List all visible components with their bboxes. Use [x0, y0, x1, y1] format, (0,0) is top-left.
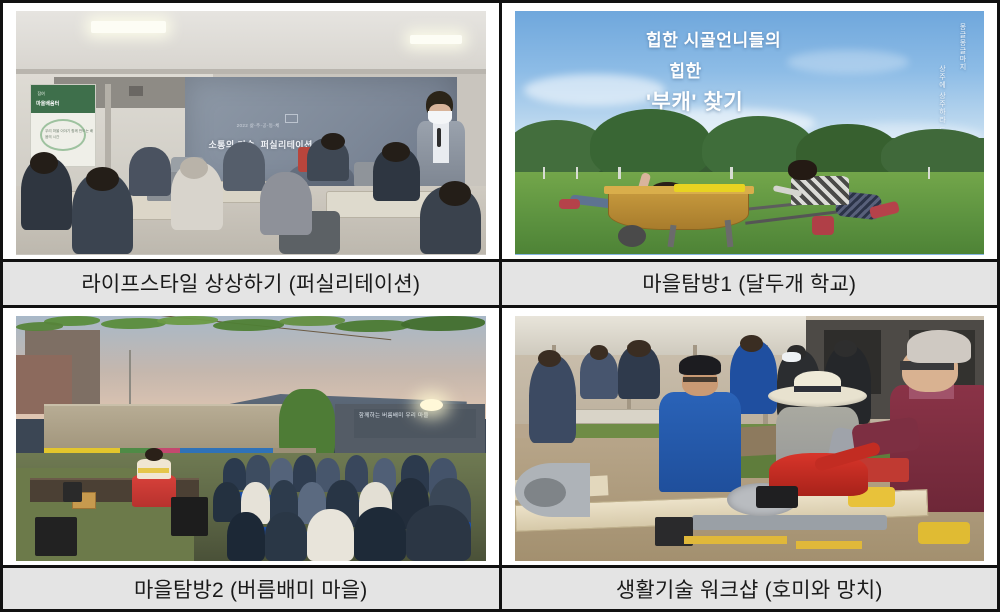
- saw-battery: [756, 486, 798, 508]
- leaf-cluster: [279, 316, 345, 326]
- work-glove: [918, 522, 970, 544]
- speaker-box: [63, 482, 82, 502]
- leaf-cluster: [335, 320, 410, 333]
- photo-village-tour-2: 함께하는 버름배미 우리 마을 마 을 을 마을: [16, 316, 486, 562]
- participant-head: [321, 133, 344, 150]
- slide-subtitle: 2022 삶-주-공-동-체: [237, 123, 280, 129]
- straw-hat-band: [794, 386, 841, 391]
- background-participant-head: [627, 340, 650, 357]
- photo-caption-grid: 참여 마을배움터 우리 마을 이야기 함께 만드는 배움의 시간 2022 삶-…: [0, 0, 1000, 612]
- poster-headline-2: 힙한: [669, 57, 701, 82]
- caption-bottom-left: 마을탐방2 (버름배미 마을): [3, 565, 499, 609]
- elder-grey-hair: [907, 330, 971, 363]
- fence-post: [928, 167, 931, 179]
- presenter-mask: [428, 111, 451, 124]
- screen-marker: [285, 114, 299, 123]
- pusher-hair: [788, 160, 817, 180]
- audience-member: [307, 509, 354, 561]
- photo-frame-lifestyle-imagining: 참여 마을배움터 우리 마을 이야기 함께 만드는 배움의 시간 2022 삶-…: [3, 3, 499, 259]
- fence-post: [576, 167, 579, 179]
- woman-pushing-wheelbarrow: [773, 157, 904, 235]
- speaker-box: [171, 497, 209, 536]
- poster-body-text: 우리 마을 이야기 함께 만드는 배움의 시간: [45, 129, 95, 140]
- grid-cell-top-right: 힙한 시골언니들의 힙한 '부캐' 찾기 반짝반짝 나의 반짝을 찾아서.. 몽…: [502, 3, 998, 305]
- saw-yellow-trim: [684, 536, 787, 543]
- caption-bottom-right: 생활기술 워크샵 (호미와 망치): [502, 565, 998, 609]
- performer-sash: [138, 468, 169, 473]
- banner-text: 함께하는 버름배미 우리 마을: [359, 412, 429, 422]
- grid-cell-top-left: 참여 마을배움터 우리 마을 이야기 함께 만드는 배움의 시간 2022 삶-…: [3, 3, 499, 305]
- glasses: [683, 377, 717, 382]
- poster-line1: 참여: [37, 91, 44, 97]
- wheelbarrow-wheel: [618, 225, 646, 247]
- ceiling-light-secondary: [410, 35, 462, 43]
- elder-participant: [890, 330, 984, 512]
- audience-member: [227, 512, 265, 561]
- photo-life-skills-workshop: [515, 316, 985, 562]
- fence-post: [730, 167, 733, 179]
- foreground-foliage: [16, 316, 486, 399]
- photo-frame-village-tour-2: 함께하는 버름배미 우리 마을 마 을 을 마을: [3, 308, 499, 566]
- participant: [260, 172, 312, 235]
- caption-top-left: 라이프스타일 상상하기 (퍼실리테이션): [3, 259, 499, 305]
- tree: [590, 109, 712, 181]
- ceiling-light: [91, 21, 166, 33]
- leaf-cluster: [213, 319, 283, 331]
- photo-village-tour-1: 힙한 시골언니들의 힙한 '부캐' 찾기 반짝반짝 나의 반짝을 찾아서.. 몽…: [515, 11, 985, 255]
- cloud: [787, 50, 909, 74]
- audience-member: [265, 512, 307, 561]
- leaf-cluster: [16, 322, 63, 330]
- participant: [223, 142, 265, 191]
- microphone: [437, 128, 441, 146]
- photo-frame-life-skills-workshop: [502, 308, 998, 566]
- leaf-cluster: [157, 316, 218, 325]
- miter-saw: [721, 453, 881, 536]
- grid-cell-bottom-left: 함께하는 버름배미 우리 마을 마 을 을 마을: [3, 308, 499, 610]
- audience-member: [406, 505, 472, 561]
- saw-yellow-trim: [796, 541, 862, 548]
- background-participant-mask: [782, 352, 801, 362]
- pusher-boot: [812, 216, 834, 235]
- rider-boot: [559, 199, 580, 210]
- wheelbarrow-yellow-pad: [674, 184, 744, 192]
- speaker-box: [35, 517, 77, 556]
- background-participant-head: [590, 345, 609, 360]
- participant: [129, 147, 171, 196]
- caption-top-right: 마을탐방1 (달두개 학교): [502, 259, 998, 305]
- poster-vertical-text-1: 몽글몽글마지: [955, 23, 970, 135]
- participant-head: [439, 181, 472, 205]
- leaf-cluster: [401, 316, 486, 331]
- photo-frame-village-tour-1: 힙한 시골언니들의 힙한 '부캐' 찾기 반짝반짝 나의 반짝을 찾아서.. 몽…: [502, 3, 998, 259]
- grass-field: [515, 172, 985, 255]
- performer-head: [145, 448, 163, 461]
- village-banner: 함께하는 버름배미 우리 마을: [354, 409, 476, 438]
- saw-pulley: [524, 478, 566, 507]
- saw-base: [692, 515, 887, 530]
- presenter: [415, 91, 467, 193]
- audience-member: [354, 507, 406, 561]
- grid-cell-bottom-right: 생활기술 워크샵 (호미와 망치): [502, 308, 998, 610]
- photo-lifestyle-imagining: 참여 마을배움터 우리 마을 이야기 함께 만드는 배움의 시간 2022 삶-…: [16, 11, 486, 255]
- poster-headline-1: 힙한 시골언니들의: [646, 26, 781, 51]
- cloud: [524, 74, 665, 106]
- performer-skirt: [132, 475, 176, 507]
- background-participant: [529, 355, 576, 443]
- poster-line2: 마을배움터: [36, 100, 59, 107]
- cap: [679, 355, 722, 376]
- fence-post: [543, 167, 546, 179]
- wall-fixture: [129, 86, 143, 96]
